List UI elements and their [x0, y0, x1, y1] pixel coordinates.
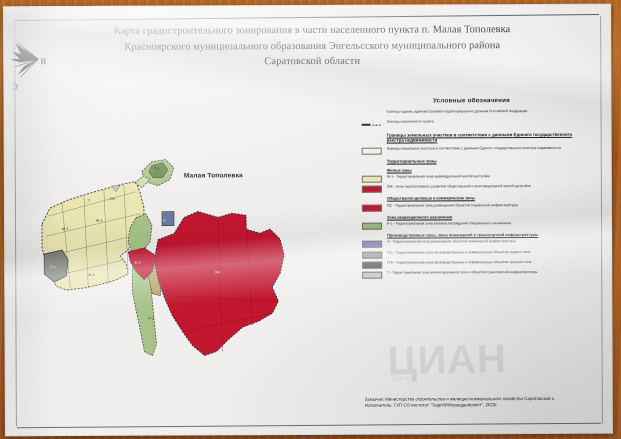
legend-key-zone-t: [362, 272, 382, 279]
legend-row-admin-boundary: Границы единиц административно-территори…: [362, 109, 582, 118]
drawing-frame-top: [15, 14, 599, 21]
legend-row-zone-zh1: Ж-1 - Территориальная зона индивидуально…: [362, 174, 582, 183]
legend-subheading-industrial: Производственные зоны, зоны инженерной и…: [387, 232, 582, 238]
printed-map-sheet: Карта градостроительного зонирования в ч…: [3, 4, 613, 437]
dashed-line-icon: [362, 121, 382, 128]
legend-row-zone-r1: Р-1 - Территориальная зона зеленых насаж…: [362, 221, 582, 230]
svg-text:П-5: П-5: [154, 167, 160, 171]
legend-label-admin-boundary: Границы единиц административно-территори…: [387, 109, 582, 114]
legend-label-zone-p5: П-5 - Территориальная зона производствен…: [387, 260, 582, 265]
legend-label-zone-i: И - Территориальная зона размещения объе…: [387, 239, 582, 244]
swatch-cadastre-parcel: [362, 148, 382, 155]
svg-text:Ж-1: Ж-1: [88, 273, 95, 277]
legend-key-cadastre-parcel: [362, 148, 382, 155]
swatch-zone-i: [362, 241, 382, 248]
compass-south-label: Э: [12, 81, 18, 91]
legend-subheading-residential: Жилые зоны: [387, 166, 582, 172]
footer-credits: Заказчик: Министерство строительства и ж…: [365, 396, 600, 410]
legend-key-zone-os: [362, 204, 382, 211]
svg-text:П-1: П-1: [50, 265, 56, 269]
svg-text:ОЖ: ОЖ: [214, 270, 221, 274]
drawing-frame-bottom: [17, 423, 601, 429]
legend-key-zone-ozh: [362, 186, 382, 193]
swatch-zone-t: [362, 272, 382, 279]
compass-east-label: В: [40, 56, 46, 66]
legend-row-zone-p5: П-5 - Территориальная зона производствен…: [362, 260, 582, 269]
legend-key-zone-i: [362, 241, 382, 248]
footer-contractor: Исполнитель: ГУП СО институт "ТеррНИИгра…: [365, 402, 600, 409]
zone-public-residential-main: [154, 211, 285, 356]
legend-key-zone-p5: [362, 262, 382, 269]
drawing-frame-right: [600, 16, 603, 424]
svg-text:Ж-1: Ж-1: [96, 219, 103, 223]
swatch-zone-zh1: [362, 175, 382, 182]
swatch-zone-p5: [362, 262, 382, 269]
legend-heading-territorial-zones: Территориальные зоны: [387, 158, 582, 164]
legend-panel: Условные обозначения Границы единиц адми…: [361, 97, 582, 282]
map-title-line-2: Красноярского муниципального образования…: [65, 37, 559, 55]
cian-watermark-subtext: ЦИАН: [393, 376, 603, 383]
compass-rose: В Э: [7, 34, 59, 98]
swatch-zone-p1: [362, 251, 382, 258]
legend-label-cadastre-parcel: Границы земельных участков в соответстви…: [387, 146, 582, 151]
cian-watermark: ЦИАН: [387, 334, 603, 391]
legend-row-zone-t: Т - Территориальная зона улично-дорожной…: [362, 270, 582, 279]
svg-text:Р-1: Р-1: [148, 317, 154, 321]
legend-label-zone-os: ОС - Территориальная зона размещения объ…: [387, 202, 582, 207]
legend-label-zone-ozh: ОЖ - Зона перспективного развития общест…: [387, 184, 582, 189]
legend-label-zone-r1: Р-1 - Территориальная зона зеленых насаж…: [387, 221, 582, 226]
swatch-zone-r1: [362, 223, 382, 230]
legend-key-dashed-line: [362, 121, 382, 128]
map-title-line-3: Саратовской области: [65, 53, 559, 71]
legend-key-zone-p1: [362, 251, 382, 258]
svg-text:Ж-3: Ж-3: [134, 261, 141, 265]
legend-row-zone-p1: П-1 - Территориальная зона производствен…: [362, 249, 582, 258]
map-title-line-1: Карта градостроительного зонирования в ч…: [65, 22, 559, 40]
svg-text:Ж-1: Ж-1: [62, 227, 69, 231]
legend-row-zone-i: И - Территориальная зона размещения объе…: [362, 239, 582, 248]
legend-row-settlement-boundary: Границы населенного пункта: [362, 119, 582, 128]
zoning-map[interactable]: Ж-1 Ж-1 Ж-1 Т ОС П-1 П-5 И Ж-3 Р-1 ОЖ: [32, 155, 363, 386]
svg-text:И: И: [163, 219, 166, 223]
legend-label-zone-p1: П-1 - Территориальная зона производствен…: [387, 249, 582, 254]
map-title: Карта градостроительного зонирования в ч…: [65, 22, 559, 71]
legend-row-cadastre-parcel: Границы земельных участков в соответстви…: [362, 146, 582, 155]
legend-label-zone-t: Т - Территориальная зона улично-дорожной…: [387, 270, 582, 275]
legend-label-settlement-boundary: Границы населенного пункта: [387, 119, 582, 124]
legend-key-empty: [362, 111, 382, 118]
swatch-zone-ozh: [362, 186, 382, 193]
svg-text:ОС: ОС: [110, 197, 116, 201]
legend-heading-cadastre: Границы земельных участков в соответстви…: [387, 132, 582, 144]
legend-row-zone-ozh: ОЖ - Зона перспективного развития общест…: [362, 184, 582, 193]
legend-subheading-recreation: Зона рекреационного назначения: [387, 214, 582, 220]
screenshot-root: Карта градостроительного зонирования в ч…: [0, 0, 621, 439]
swatch-zone-os: [362, 204, 382, 211]
legend-key-zone-r1: [362, 223, 382, 230]
legend-title: Условные обозначения: [361, 97, 581, 105]
legend-key-zone-zh1: [362, 175, 382, 182]
legend-label-zone-zh1: Ж-1 - Территориальная зона индивидуально…: [387, 174, 582, 179]
legend-subheading-public-business: Общественно-деловые и коммерческие зоны: [387, 195, 582, 201]
legend-row-zone-os: ОС - Территориальная зона размещения объ…: [362, 202, 582, 211]
